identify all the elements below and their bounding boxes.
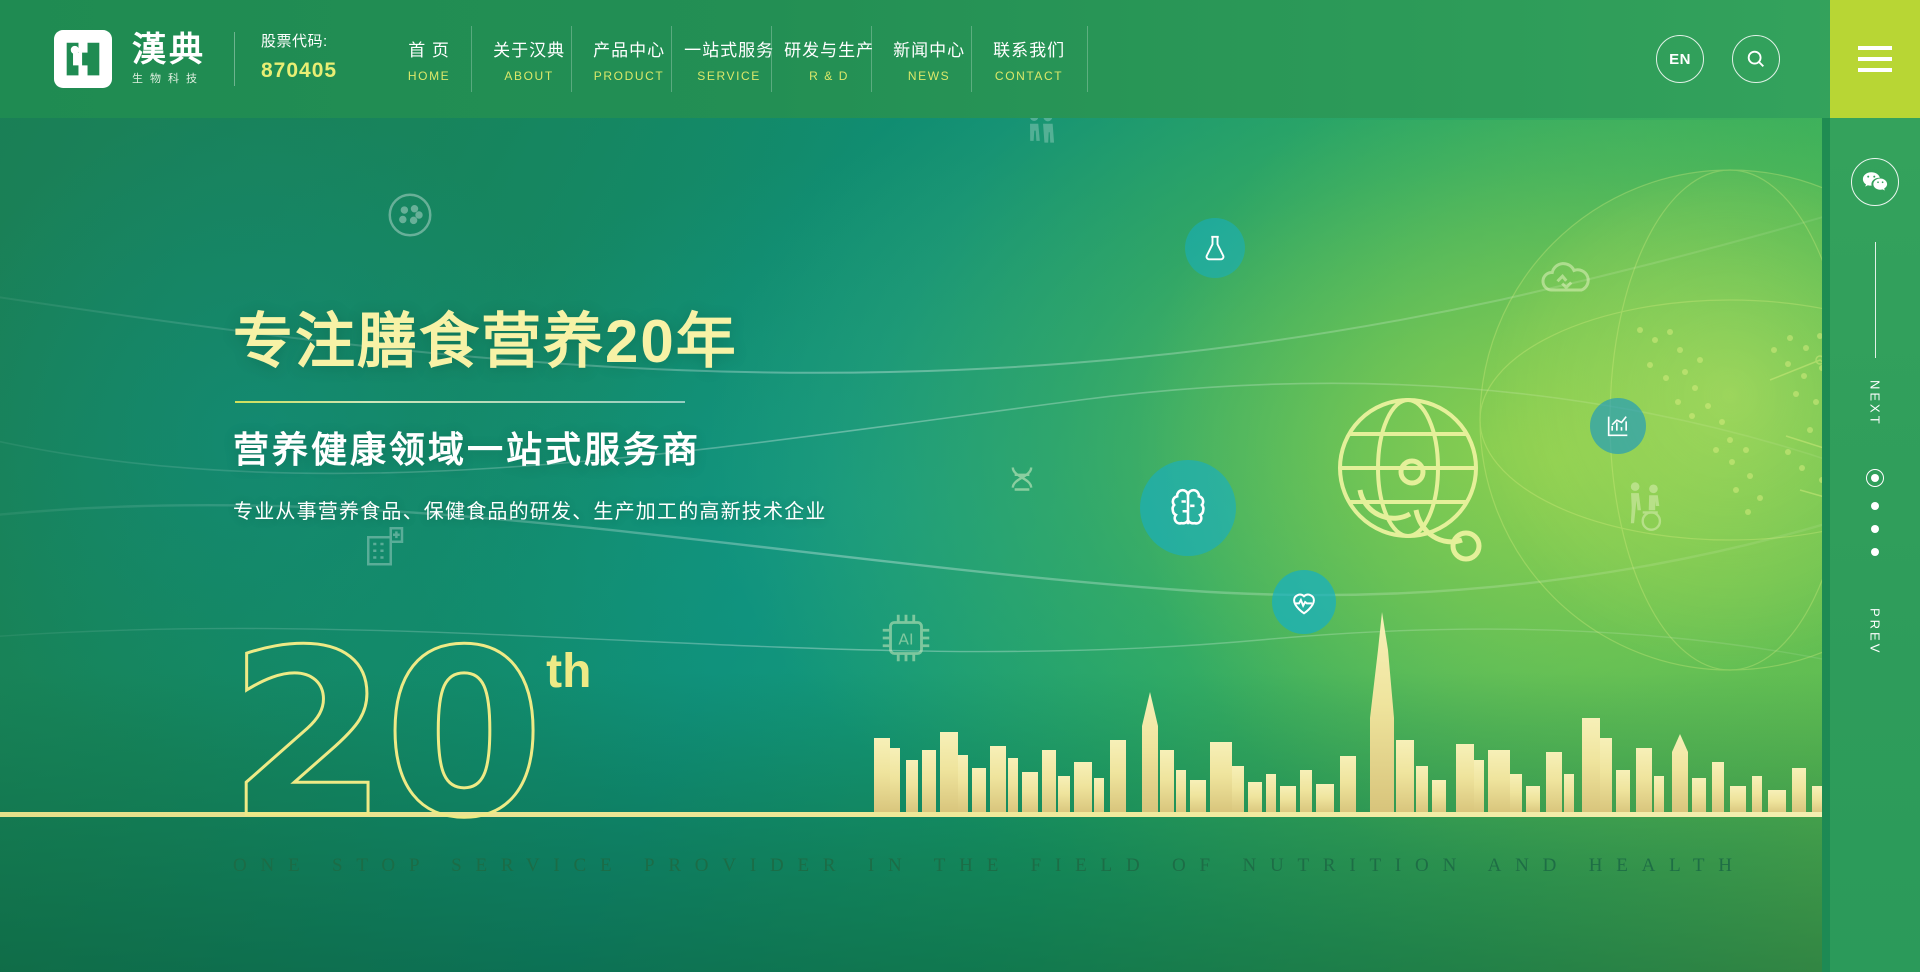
main-navigation: 首 页 HOME 关于汉典 ABOUT 产品中心 PRODUCT 一站式服务 S… <box>379 0 1088 118</box>
nav-label-cn: 研发与生产 <box>784 36 874 61</box>
nav-item-service[interactable]: 一站式服务 SERVICE <box>679 36 779 83</box>
nav-label-en: NEWS <box>908 69 950 83</box>
nav-label-en: PRODUCT <box>594 69 665 83</box>
slide-pagination <box>1866 469 1884 556</box>
slide-dot-3[interactable] <box>1871 525 1879 533</box>
nav-label-en: ABOUT <box>504 69 553 83</box>
stock-info: 股票代码: 870405 <box>261 31 337 86</box>
nav-label-cn: 新闻中心 <box>893 36 965 61</box>
capsule-pill-icon <box>383 188 437 242</box>
hero-subheadline: 营养健康领域一站式服务商 <box>233 429 827 470</box>
nav-item-rd[interactable]: 研发与生产 R & D <box>779 36 879 83</box>
wechat-icon[interactable] <box>1851 158 1899 206</box>
city-skyline-icon <box>860 600 1860 815</box>
recycle-cloud-icon <box>1535 250 1595 310</box>
hero-divider <box>235 401 685 403</box>
bar-chart-icon <box>1590 398 1646 454</box>
slide-dot-1[interactable] <box>1866 469 1884 487</box>
nav-label-cn: 产品中心 <box>593 36 665 61</box>
elderly-care-icon <box>1620 478 1674 534</box>
anniversary-badge: 20 th <box>228 630 591 842</box>
side-rail: NEXT PREV <box>1830 118 1920 972</box>
brand-name-cn: 漢典 <box>132 33 206 67</box>
hamburger-menu-icon[interactable] <box>1830 0 1920 118</box>
nav-label-en: CONTACT <box>995 69 1063 83</box>
next-slide-button[interactable]: NEXT <box>1868 380 1883 427</box>
nav-label-cn: 首 页 <box>408 36 450 61</box>
hero-description: 专业从事营养食品、保健食品的研发、生产加工的高新技术企业 <box>233 498 827 526</box>
nav-label-en: SERVICE <box>697 69 761 83</box>
anniversary-number: 20 <box>228 630 540 842</box>
anniversary-suffix: th <box>546 644 591 699</box>
search-button[interactable] <box>1732 35 1780 83</box>
search-icon <box>1745 48 1767 70</box>
burger-bar <box>1858 68 1892 72</box>
header-divider <box>234 32 235 86</box>
globe-stethoscope-icon <box>1320 380 1520 580</box>
rail-edge-stripe <box>1822 118 1830 972</box>
language-label: EN <box>1669 51 1691 68</box>
hero-headline: 专注膳食营养20年 <box>233 310 827 373</box>
burger-bar <box>1858 46 1892 50</box>
nav-item-news[interactable]: 新闻中心 NEWS <box>879 36 979 83</box>
nav-item-product[interactable]: 产品中心 PRODUCT <box>579 36 679 83</box>
stock-code: 870405 <box>261 56 337 86</box>
hero-copy: 专注膳食营养20年 营养健康领域一站式服务商 专业从事营养食品、保健食品的研发、… <box>233 310 827 526</box>
prev-slide-button[interactable]: PREV <box>1868 608 1883 655</box>
nav-label-en: HOME <box>408 69 450 83</box>
nav-item-about[interactable]: 关于汉典 ABOUT <box>479 36 579 83</box>
slide-dot-2[interactable] <box>1871 502 1879 510</box>
brand-name-sub: 生物科技 <box>132 74 206 85</box>
page-root: AI <box>0 0 1920 972</box>
site-header: 漢典 生物科技 股票代码: 870405 首 页 HOME 关于汉典 ABOUT… <box>0 0 1920 118</box>
nav-item-contact[interactable]: 联系我们 CONTACT <box>979 36 1079 83</box>
rail-vertical-line <box>1875 242 1876 358</box>
nav-label-cn: 一站式服务 <box>684 36 774 61</box>
nav-label-cn: 联系我们 <box>993 36 1065 61</box>
nav-item-home[interactable]: 首 页 HOME <box>379 36 479 83</box>
flask-icon <box>1185 218 1245 278</box>
nav-end-divider <box>1087 26 1088 92</box>
hanzi-h-logo-icon <box>54 30 112 88</box>
burger-bar <box>1858 57 1892 61</box>
nav-label-en: R & D <box>809 69 849 83</box>
dna-icon <box>1000 462 1044 506</box>
stock-label: 股票代码: <box>261 31 337 53</box>
slide-dot-4[interactable] <box>1871 548 1879 556</box>
language-toggle-button[interactable]: EN <box>1656 35 1704 83</box>
nav-label-cn: 关于汉典 <box>493 36 565 61</box>
hero-tagline: ONE STOP SERVICE PROVIDER IN THE FIELD O… <box>233 855 1746 877</box>
brain-icon <box>1140 460 1236 556</box>
brand-logo[interactable]: 漢典 生物科技 <box>54 30 206 88</box>
